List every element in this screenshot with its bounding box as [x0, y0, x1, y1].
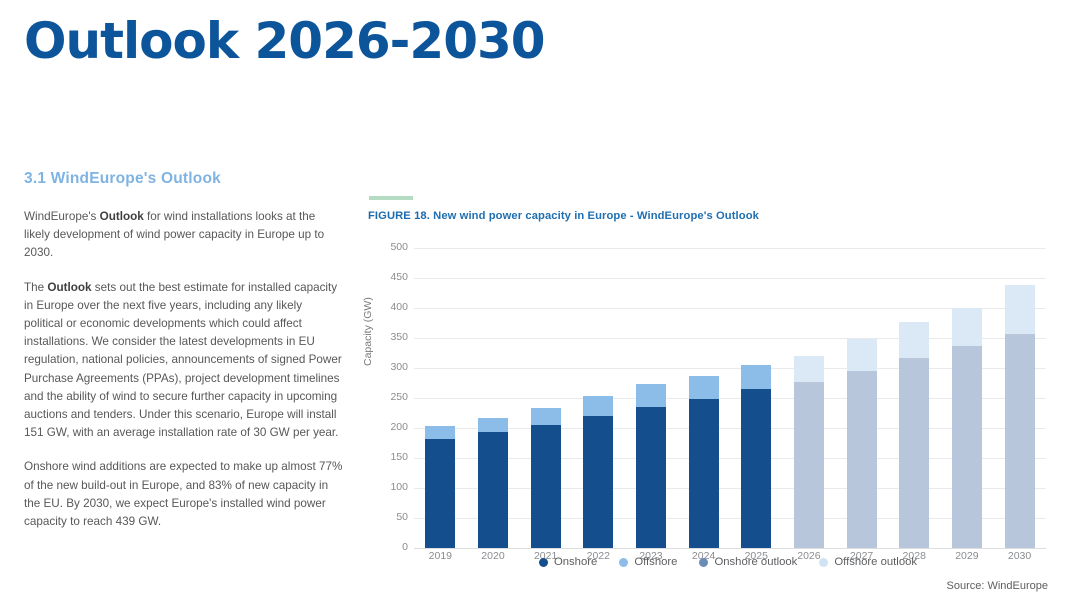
x-tick-2019: 2019 — [425, 550, 455, 562]
bar-segment-offshore-2021 — [531, 408, 561, 425]
figure-block: FIGURE 18. New wind power capacity in Eu… — [368, 196, 1056, 596]
bar-column-2023[interactable] — [636, 248, 666, 548]
bar-segment-offshore-2019 — [425, 426, 455, 439]
bar-column-2019[interactable] — [425, 248, 455, 548]
bar-segment-offshore-2020 — [478, 418, 508, 432]
legend-label: Onshore outlook — [714, 556, 797, 568]
bar-segment-offshore-2022 — [583, 396, 613, 416]
bar-column-2022[interactable] — [583, 248, 613, 548]
y-tick-0: 0 — [368, 541, 408, 553]
legend-label: Offshore outlook — [834, 556, 917, 568]
bar-chart: Capacity (GW) 50045040035030025020015010… — [368, 248, 1056, 548]
legend-dot-icon — [699, 558, 708, 567]
chart-legend: OnshoreOffshoreOnshore outlookOffshore o… — [488, 556, 968, 568]
y-tick-200: 200 — [368, 421, 408, 433]
bar-segment-offshore-outlook-2028 — [899, 322, 929, 358]
figure-rule — [369, 196, 413, 200]
bar-segment-offshore-2024 — [689, 376, 719, 399]
bar-column-2025[interactable] — [741, 248, 771, 548]
bar-segment-onshore-2025 — [741, 389, 771, 548]
bar-segment-offshore-outlook-2030 — [1005, 285, 1035, 334]
figure-number: FIGURE 18. — [368, 210, 430, 222]
legend-item-offshore[interactable]: Offshore — [619, 556, 677, 568]
y-tick-300: 300 — [368, 361, 408, 373]
bar-segment-onshore-outlook-2029 — [952, 346, 982, 548]
legend-item-onshore-outlook[interactable]: Onshore outlook — [699, 556, 797, 568]
bar-segment-onshore-2020 — [478, 432, 508, 548]
body-copy: WindEurope's Outlook for wind installati… — [24, 208, 344, 547]
gridline-0 — [414, 548, 1046, 549]
y-tick-450: 450 — [368, 271, 408, 283]
legend-label: Onshore — [554, 556, 597, 568]
bar-segment-onshore-outlook-2028 — [899, 358, 929, 548]
bar-column-2021[interactable] — [531, 248, 561, 548]
bar-segment-onshore-outlook-2026 — [794, 382, 824, 548]
bar-series-group — [414, 248, 1046, 548]
legend-item-onshore[interactable]: Onshore — [539, 556, 597, 568]
bar-segment-offshore-outlook-2029 — [952, 308, 982, 346]
legend-label: Offshore — [634, 556, 677, 568]
legend-dot-icon — [819, 558, 828, 567]
bar-segment-onshore-2021 — [531, 425, 561, 548]
bar-segment-onshore-2022 — [583, 416, 613, 548]
y-tick-100: 100 — [368, 481, 408, 493]
legend-item-offshore-outlook[interactable]: Offshore outlook — [819, 556, 917, 568]
section-heading: 3.1 WindEurope's Outlook — [24, 170, 221, 188]
bar-column-2029[interactable] — [952, 248, 982, 548]
bar-column-2026[interactable] — [794, 248, 824, 548]
y-tick-500: 500 — [368, 241, 408, 253]
bar-column-2028[interactable] — [899, 248, 929, 548]
y-tick-50: 50 — [368, 511, 408, 523]
bar-segment-onshore-2023 — [636, 407, 666, 548]
paragraph-1: WindEurope's Outlook for wind installati… — [24, 208, 344, 263]
figure-caption-text: New wind power capacity in Europe - Wind… — [433, 210, 759, 222]
legend-dot-icon — [619, 558, 628, 567]
bar-column-2030[interactable] — [1005, 248, 1035, 548]
bar-segment-offshore-outlook-2027 — [847, 339, 877, 371]
bar-column-2020[interactable] — [478, 248, 508, 548]
paragraph-3: Onshore wind additions are expected to m… — [24, 458, 344, 531]
page-title: Outlook 2026-2030 — [24, 14, 545, 69]
bar-segment-onshore-outlook-2030 — [1005, 334, 1035, 548]
bar-segment-offshore-outlook-2026 — [794, 356, 824, 382]
bar-segment-onshore-2024 — [689, 399, 719, 548]
y-tick-350: 350 — [368, 331, 408, 343]
legend-dot-icon — [539, 558, 548, 567]
y-tick-400: 400 — [368, 301, 408, 313]
y-tick-150: 150 — [368, 451, 408, 463]
bar-segment-onshore-outlook-2027 — [847, 371, 877, 548]
bar-segment-onshore-2019 — [425, 439, 455, 548]
x-tick-2030: 2030 — [1005, 550, 1035, 562]
bar-column-2024[interactable] — [689, 248, 719, 548]
bar-segment-offshore-2023 — [636, 384, 666, 407]
figure-caption: FIGURE 18. New wind power capacity in Eu… — [368, 210, 1056, 222]
y-tick-250: 250 — [368, 391, 408, 403]
source-note: Source: WindEurope — [947, 580, 1049, 592]
bar-segment-offshore-2025 — [741, 365, 771, 389]
paragraph-2: The Outlook sets out the best estimate f… — [24, 279, 344, 443]
bar-column-2027[interactable] — [847, 248, 877, 548]
